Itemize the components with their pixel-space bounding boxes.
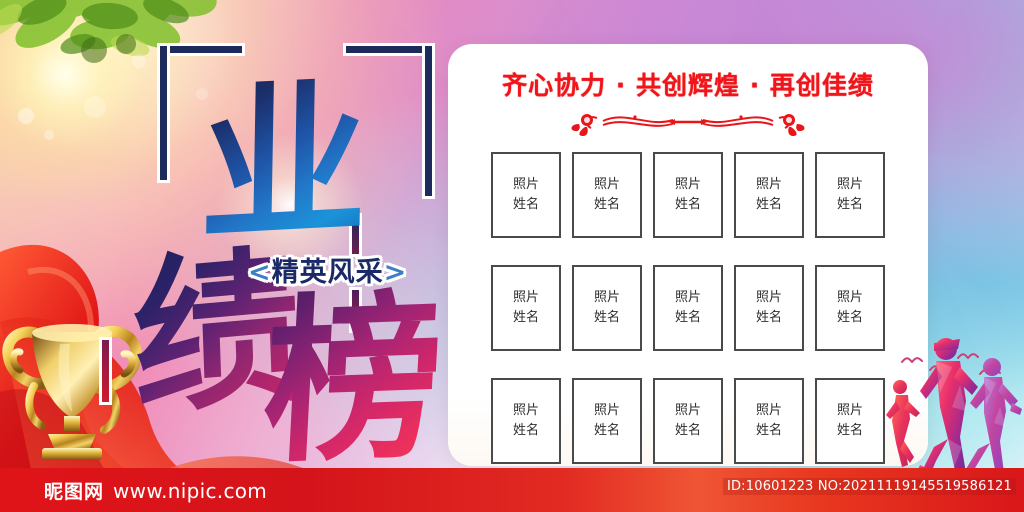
name-label: 姓名 xyxy=(675,308,701,328)
name-label: 姓名 xyxy=(594,308,620,328)
photo-label: 照片 xyxy=(756,401,782,421)
poster-subtitle: <精英风采> xyxy=(248,250,407,289)
name-label: 姓名 xyxy=(837,308,863,328)
name-label: 姓名 xyxy=(513,308,539,328)
photo-label: 照片 xyxy=(675,288,701,308)
photo-label: 照片 xyxy=(837,175,863,195)
photo-label: 照片 xyxy=(756,175,782,195)
panel-headline: 齐心协力 · 共创辉煌 · 再创佳绩 xyxy=(448,66,928,102)
running-athletes-silhouette xyxy=(874,315,1024,490)
photo-label: 照片 xyxy=(594,175,620,195)
photo-cell[interactable]: 照片姓名 xyxy=(491,152,561,238)
photo-cell[interactable]: 照片姓名 xyxy=(653,265,723,351)
photo-cell[interactable]: 照片姓名 xyxy=(734,265,804,351)
photo-cell[interactable]: 照片姓名 xyxy=(491,265,561,351)
name-label: 姓名 xyxy=(675,421,701,441)
photo-cell[interactable]: 照片姓名 xyxy=(491,378,561,464)
bokeh-light xyxy=(44,130,54,140)
name-label: 姓名 xyxy=(594,195,620,215)
watermark-url: www.nipic.com xyxy=(113,479,267,503)
photo-label: 照片 xyxy=(675,401,701,421)
content-panel: 齐心协力 · 共创辉煌 · 再创佳绩 xyxy=(448,44,928,466)
photo-cell[interactable]: 照片姓名 xyxy=(734,378,804,464)
photo-cell[interactable]: 照片姓名 xyxy=(572,378,642,464)
photo-label: 照片 xyxy=(837,401,863,421)
photo-cell[interactable]: 照片姓名 xyxy=(653,152,723,238)
photo-cell[interactable]: 照片姓名 xyxy=(653,378,723,464)
name-label: 姓名 xyxy=(675,195,701,215)
photo-cell[interactable]: 照片姓名 xyxy=(572,152,642,238)
photo-label: 照片 xyxy=(513,401,539,421)
photo-label: 照片 xyxy=(513,288,539,308)
name-label: 姓名 xyxy=(594,421,620,441)
photo-label: 照片 xyxy=(513,175,539,195)
name-label: 姓名 xyxy=(837,421,863,441)
watermark-logo: 昵图网 xyxy=(44,477,104,504)
name-label: 姓名 xyxy=(513,195,539,215)
photo-label: 照片 xyxy=(594,401,620,421)
subtitle-close-angle: > xyxy=(384,257,408,288)
subtitle-text: 精英风采 xyxy=(272,257,384,288)
image-id-text: ID:10601223 NO:20211119145519586121 xyxy=(723,478,1016,495)
photo-grid: 照片姓名 照片姓名 照片姓名 照片姓名 照片姓名 照片姓名 照片姓名 照片姓名 … xyxy=(491,152,885,464)
watermark: 昵图网 www.nipic.com xyxy=(44,477,267,504)
photo-label: 照片 xyxy=(594,288,620,308)
gold-trophy-icon xyxy=(0,292,148,472)
name-label: 姓名 xyxy=(756,421,782,441)
name-label: 姓名 xyxy=(756,308,782,328)
poster-canvas: 业 绩 榜 <精英风采> 齐心协力 · 共创辉煌 · 再创佳绩 xyxy=(0,0,1024,512)
bokeh-light xyxy=(84,96,106,118)
red-floral-divider-icon xyxy=(563,108,813,138)
photo-label: 照片 xyxy=(756,288,782,308)
photo-cell[interactable]: 照片姓名 xyxy=(734,152,804,238)
photo-label: 照片 xyxy=(675,175,701,195)
bokeh-light xyxy=(132,54,146,68)
photo-cell[interactable]: 照片姓名 xyxy=(815,152,885,238)
photo-label: 照片 xyxy=(837,288,863,308)
subtitle-open-angle: < xyxy=(248,257,272,288)
bokeh-light xyxy=(18,108,34,124)
name-label: 姓名 xyxy=(837,195,863,215)
poster-title-block: 业 绩 榜 <精英风采> xyxy=(150,22,440,442)
name-label: 姓名 xyxy=(513,421,539,441)
name-label: 姓名 xyxy=(756,195,782,215)
photo-cell[interactable]: 照片姓名 xyxy=(572,265,642,351)
